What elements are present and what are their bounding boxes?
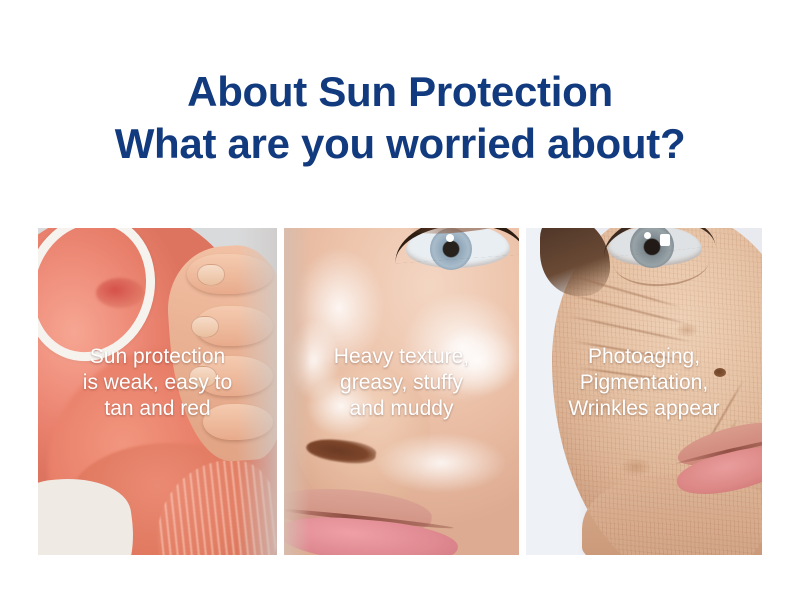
fingernail-2 [191, 316, 219, 338]
panel-caption-aging: Photoaging, Pigmentation, Wrinkles appea… [526, 344, 762, 422]
pigmentation-spot-2 [676, 323, 698, 337]
panel-photoaging[interactable]: Photoaging, Pigmentation, Wrinkles appea… [526, 228, 762, 555]
oil-shine-5 [376, 433, 506, 493]
pigmentation-spot-3 [621, 458, 651, 476]
panel-caption-oily: Heavy texture, greasy, stuffy and muddy [284, 344, 519, 422]
page-title: About Sun Protection What are you worrie… [0, 66, 800, 170]
title-line-1: About Sun Protection [0, 66, 800, 118]
fingernail-1 [197, 264, 225, 286]
panel-caption-sunburn: Sun protection is weak, easy to tan and … [38, 344, 277, 422]
panel-heavy-texture[interactable]: Heavy texture, greasy, stuffy and muddy [284, 228, 519, 555]
concern-panels-row: Sun protection is weak, easy to tan and … [38, 228, 762, 555]
title-line-2: What are you worried about? [0, 118, 800, 170]
panel-sun-protection-weak[interactable]: Sun protection is weak, easy to tan and … [38, 228, 277, 555]
